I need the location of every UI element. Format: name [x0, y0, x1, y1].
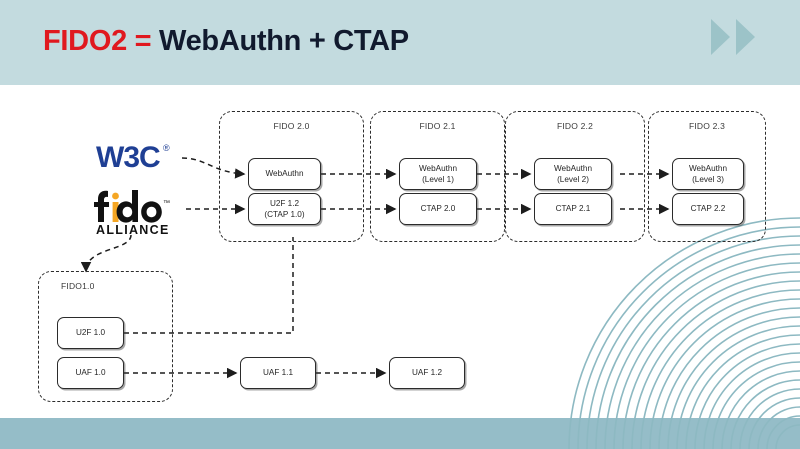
node-webauthn-2-0[interactable]: WebAuthn: [248, 158, 321, 190]
group-label: FIDO 2.0: [220, 121, 363, 131]
node-line: WebAuthn: [419, 163, 457, 174]
node-ctap-2-0[interactable]: CTAP 2.0: [399, 193, 477, 225]
group-label: FIDO 2.3: [649, 121, 765, 131]
node-line: WebAuthn: [689, 163, 727, 174]
node-line: WebAuthn: [265, 168, 303, 179]
node-ctap-2-2[interactable]: CTAP 2.2: [672, 193, 744, 225]
node-line: UAF 1.2: [412, 367, 442, 378]
node-u2f-1-2[interactable]: U2F 1.2 (CTAP 1.0): [248, 193, 321, 225]
w3c-logo: W3C ®: [96, 140, 180, 174]
svg-text:ALLIANCE: ALLIANCE: [96, 223, 170, 235]
fido-alliance-logo: ™ ALLIANCE: [86, 189, 186, 235]
node-webauthn-2-1[interactable]: WebAuthn (Level 1): [399, 158, 477, 190]
node-line: U2F 1.2: [270, 198, 299, 209]
node-line: (CTAP 1.0): [264, 209, 304, 220]
title-red-part: FIDO2 =: [43, 25, 151, 57]
node-uaf-1-0[interactable]: UAF 1.0: [57, 357, 124, 389]
node-line: CTAP 2.2: [691, 203, 726, 214]
page-title: FIDO2 = WebAuthn + CTAP: [43, 27, 409, 56]
node-line: U2F 1.0: [76, 327, 105, 338]
node-uaf-1-1[interactable]: UAF 1.1: [240, 357, 316, 389]
node-line: CTAP 2.0: [421, 203, 456, 214]
node-line: (Level 1): [422, 174, 454, 185]
footer-band: [0, 418, 800, 449]
node-line: (Level 3): [692, 174, 724, 185]
node-line: WebAuthn: [554, 163, 592, 174]
node-line: UAF 1.0: [75, 367, 105, 378]
group-label: FIDO 2.2: [506, 121, 644, 131]
chevron-right-icon: [736, 19, 755, 55]
group-label: FIDO1.0: [61, 281, 172, 291]
node-line: (Level 2): [557, 174, 589, 185]
node-line: UAF 1.1: [263, 367, 293, 378]
svg-text:®: ®: [163, 143, 170, 153]
node-u2f-1-0[interactable]: U2F 1.0: [57, 317, 124, 349]
node-webauthn-2-2[interactable]: WebAuthn (Level 2): [534, 158, 612, 190]
w3c-logo-icon: W3C ®: [96, 140, 180, 174]
title-navy-part: WebAuthn + CTAP: [151, 25, 409, 57]
chevron-right-icon: [711, 19, 730, 55]
node-webauthn-2-3[interactable]: WebAuthn (Level 3): [672, 158, 744, 190]
group-label: FIDO 2.1: [371, 121, 504, 131]
node-uaf-1-2[interactable]: UAF 1.2: [389, 357, 465, 389]
architecture-diagram: W3C ® ™ ALLIANCE F: [0, 85, 800, 418]
svg-text:™: ™: [163, 200, 170, 207]
slide-canvas: FIDO2 = WebAuthn + CTAP: [0, 0, 800, 449]
node-ctap-2-1[interactable]: CTAP 2.1: [534, 193, 612, 225]
node-line: CTAP 2.1: [556, 203, 591, 214]
svg-text:W3C: W3C: [96, 141, 160, 174]
fido-alliance-logo-icon: ™ ALLIANCE: [86, 189, 186, 235]
